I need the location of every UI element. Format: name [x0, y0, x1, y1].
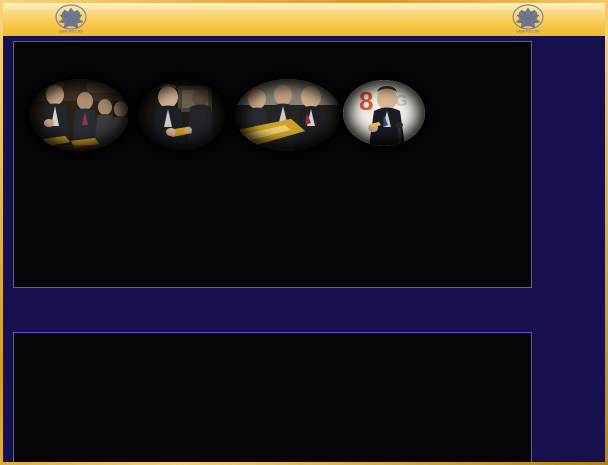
photo-putin-holding-gold-bar — [138, 80, 226, 150]
chart-body: 8 G — [3, 36, 605, 462]
photo-official-with-gold-bars — [29, 79, 129, 151]
russian-eagle-emblem-icon: БАНК РОССИИ — [48, 3, 94, 34]
monthly-change-chart-panel[interactable] — [13, 332, 532, 464]
photo-officials-inspecting-gold-bar — [235, 79, 341, 151]
gold-reserves-chart-page: БАНК РОССИИ БАНК РОССИИ — [0, 0, 608, 465]
photo-medvedev-holding-gold-bar: 8 G — [343, 80, 425, 146]
svg-text:БАНК РОССИИ: БАНК РОССИИ — [60, 30, 84, 34]
svg-text:БАНК РОССИИ: БАНК РОССИИ — [517, 30, 541, 34]
russian-eagle-emblem-icon: БАНК РОССИИ — [505, 3, 551, 34]
